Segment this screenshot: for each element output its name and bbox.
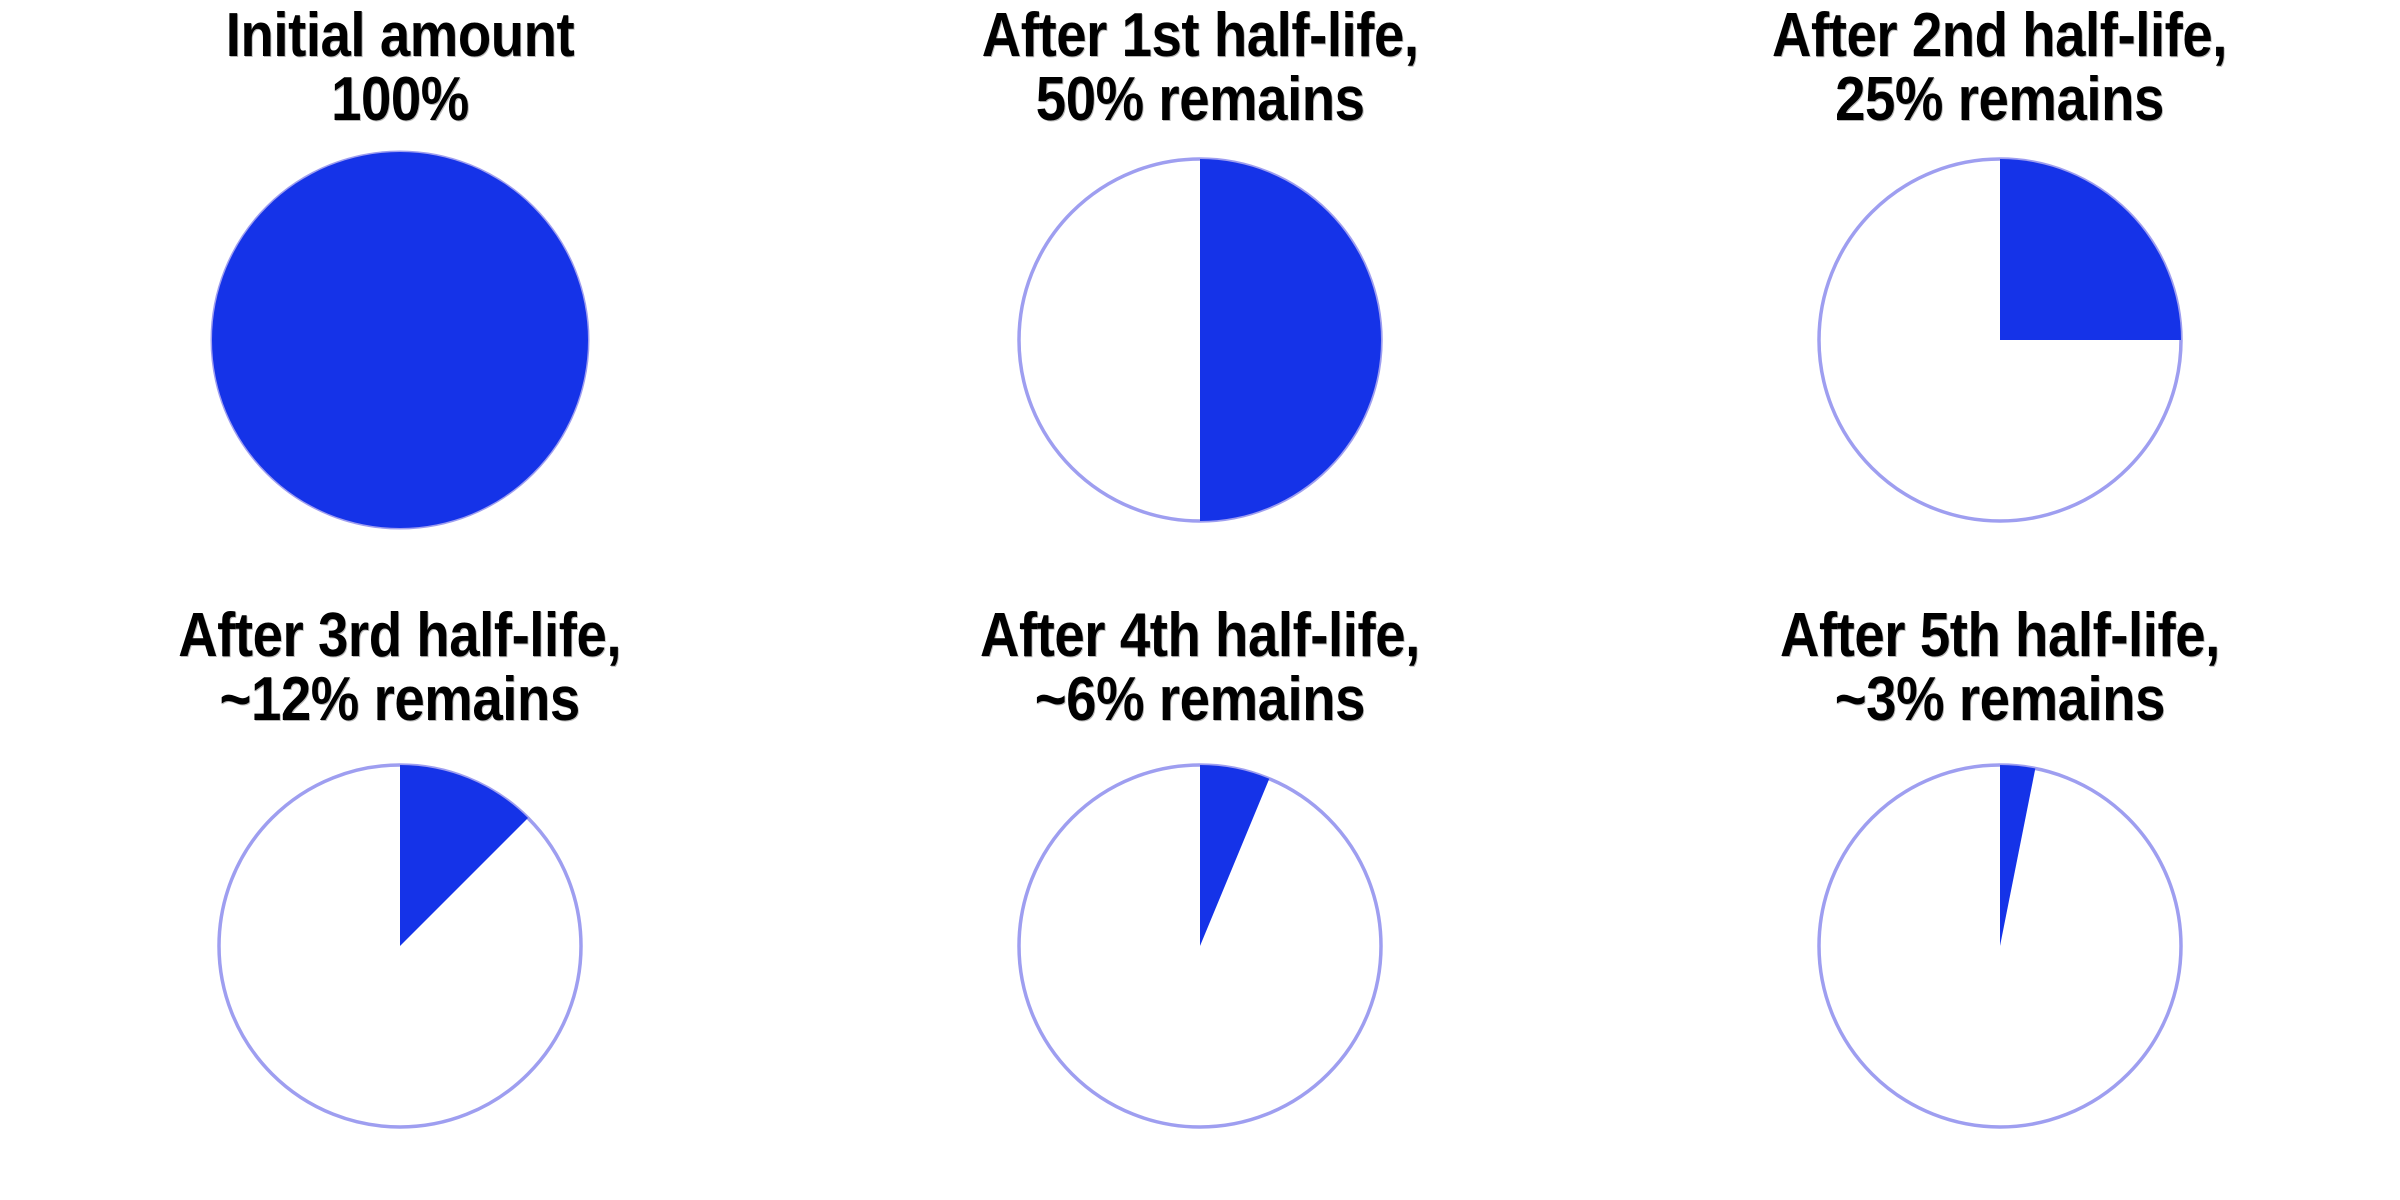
- panel-title-line-2: ~6% remains: [980, 668, 1420, 732]
- panel-title-line-1: After 5th half-life,: [1780, 604, 2220, 668]
- panel-title: After 4th half-life, ~6% remains: [980, 604, 1420, 732]
- pie-chart-100-percent: [200, 140, 600, 540]
- pie-chart-50-percent: [1000, 140, 1400, 540]
- panel-title: After 2nd half-life, 25% remains: [1773, 4, 2228, 132]
- panel-half-life-4: After 4th half-life, ~6% remains: [800, 600, 1600, 1200]
- panel-title-line-1: After 1st half-life,: [982, 4, 1419, 68]
- panel-half-life-2: After 2nd half-life, 25% remains: [1600, 0, 2400, 600]
- panel-title-line-2: ~12% remains: [179, 668, 622, 732]
- panel-grid: Initial amount 100% After 1st half-life,…: [0, 0, 2400, 1200]
- pie-chart-3-percent: [1800, 746, 2200, 1146]
- pie-wrap: [1800, 140, 2200, 600]
- panel-title: Initial amount 100%: [226, 4, 574, 132]
- pie-wedge-remaining: [2000, 159, 2181, 340]
- panel-half-life-5: After 5th half-life, ~3% remains: [1600, 600, 2400, 1200]
- half-life-pie-figure: Initial amount 100% After 1st half-life,…: [0, 0, 2400, 1200]
- panel-title: After 3rd half-life, ~12% remains: [179, 604, 622, 732]
- pie-wrap: [1000, 746, 1400, 1200]
- panel-title-line-1: After 4th half-life,: [980, 604, 1420, 668]
- panel-title-line-1: Initial amount: [226, 4, 574, 68]
- pie-chart-12-percent: [200, 746, 600, 1146]
- panel-title-line-1: After 2nd half-life,: [1773, 4, 2228, 68]
- panel-title: After 1st half-life, 50% remains: [982, 4, 1419, 132]
- pie-wedge-remaining: [212, 152, 588, 528]
- pie-chart-6-percent: [1000, 746, 1400, 1146]
- pie-wrap: [1000, 140, 1400, 600]
- panel-title-line-2: ~3% remains: [1780, 668, 2220, 732]
- panel-title-line-2: 100%: [226, 68, 574, 132]
- panel-half-life-1: After 1st half-life, 50% remains: [800, 0, 1600, 600]
- pie-wedge-remaining: [1200, 159, 1381, 521]
- panel-initial-amount: Initial amount 100%: [0, 0, 800, 600]
- panel-title-line-2: 25% remains: [1773, 68, 2228, 132]
- panel-half-life-3: After 3rd half-life, ~12% remains: [0, 600, 800, 1200]
- pie-wrap: [1800, 746, 2200, 1200]
- pie-wrap: [200, 140, 600, 600]
- panel-title: After 5th half-life, ~3% remains: [1780, 604, 2220, 732]
- panel-title-line-1: After 3rd half-life,: [179, 604, 622, 668]
- panel-title-line-2: 50% remains: [982, 68, 1419, 132]
- pie-wrap: [200, 746, 600, 1200]
- pie-chart-25-percent: [1800, 140, 2200, 540]
